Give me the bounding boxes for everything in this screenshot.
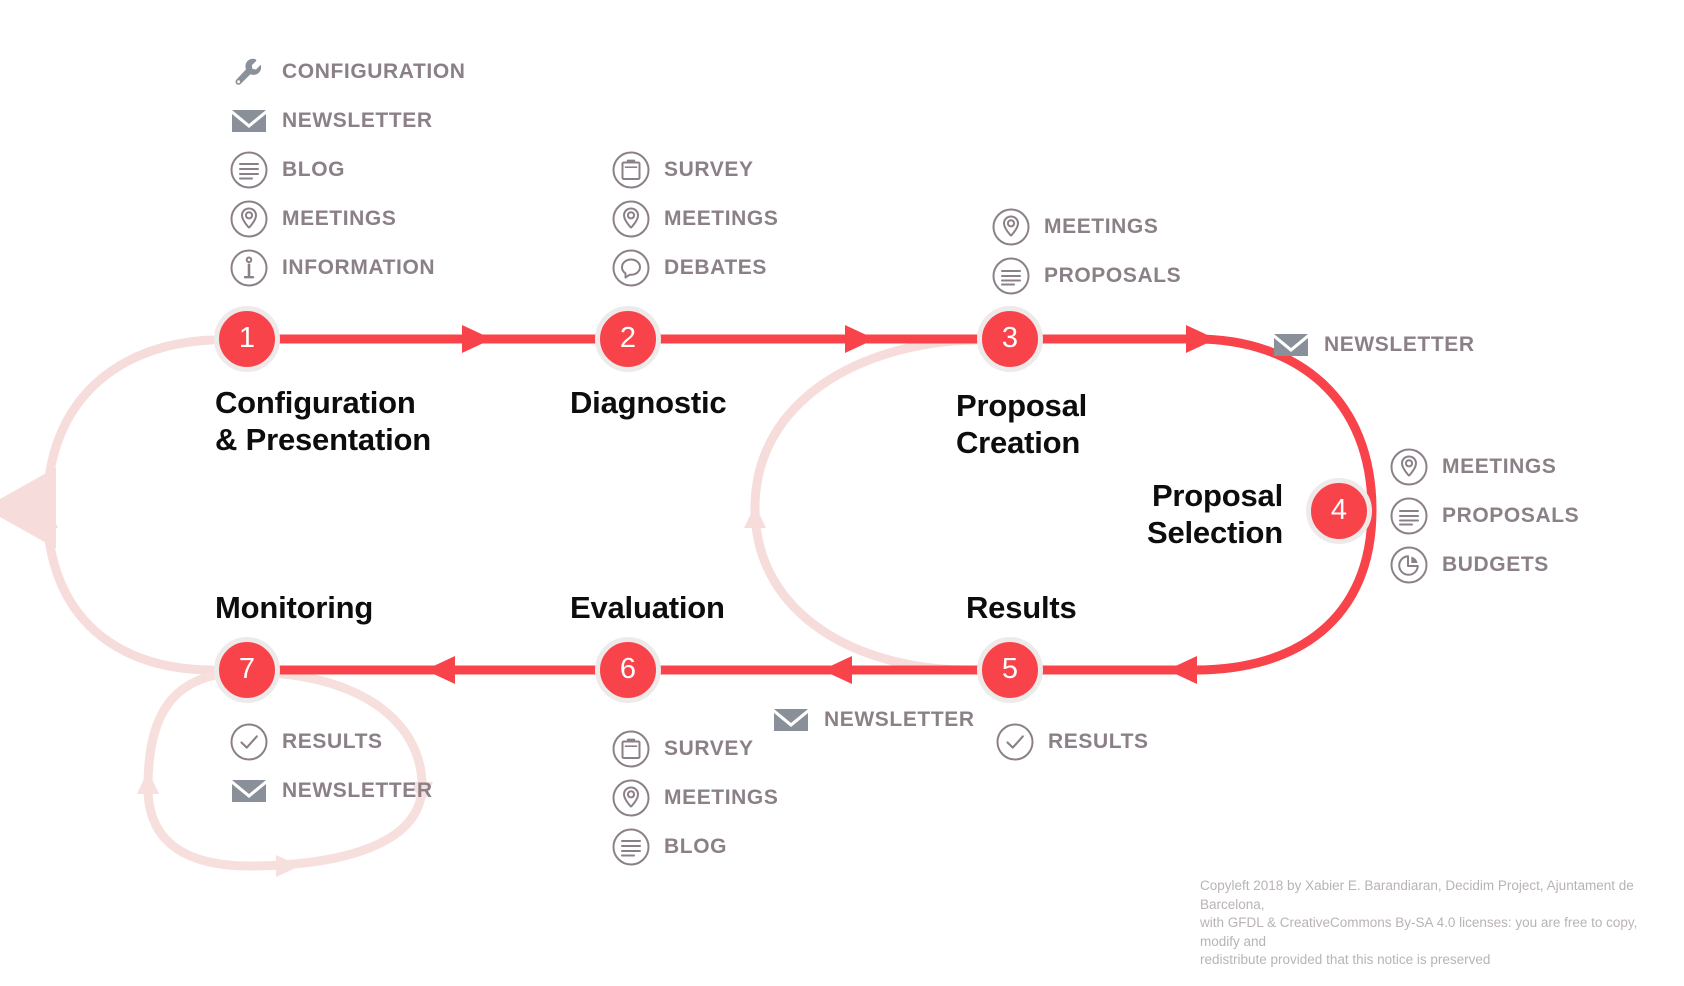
location-pin-icon	[608, 196, 654, 242]
step-node-5-number: 5	[1002, 655, 1018, 684]
icon-label-newsletter: NEWSLETTER	[1324, 334, 1475, 355]
loop-arrowhead-middle	[744, 505, 766, 528]
icon-label-meetings: MEETINGS	[1044, 216, 1158, 237]
icon-label-newsletter: NEWSLETTER	[282, 110, 433, 131]
step-title-6: Evaluation	[570, 590, 725, 627]
icon-row-meetings[interactable]: MEETINGS	[988, 202, 1181, 251]
icon-group-step-3-newsletter: NEWSLETTER	[1268, 320, 1475, 369]
icon-row-blog[interactable]: BLOG	[226, 145, 466, 194]
icon-row-meetings[interactable]: MEETINGS	[608, 194, 778, 243]
location-pin-icon	[226, 196, 272, 242]
icon-row-newsletter[interactable]: NEWSLETTER	[1268, 320, 1475, 369]
icon-label-debates: DEBATES	[664, 257, 767, 278]
loop-arrowhead-self-bottom	[276, 855, 300, 877]
arrowhead-5-to-6	[822, 656, 852, 684]
icon-row-results[interactable]: RESULTS	[992, 717, 1149, 766]
location-pin-icon	[988, 204, 1034, 250]
icon-row-results[interactable]: RESULTS	[226, 717, 433, 766]
arrowhead-1-to-2	[462, 325, 492, 353]
loop-results-to-proposal-creation	[755, 340, 975, 670]
step-title-4: Proposal Selection	[1000, 478, 1283, 551]
step-node-3-number: 3	[1002, 324, 1018, 353]
step-node-2[interactable]: 2	[595, 306, 661, 372]
arrowhead-4-to-5	[1167, 656, 1197, 684]
step-node-3[interactable]: 3	[977, 306, 1043, 372]
copyright-line-2: with GFDL & CreativeCommons By-SA 4.0 li…	[1200, 914, 1670, 951]
icon-group-step-5-newsletter: NEWSLETTER	[768, 695, 975, 744]
icon-label-blog: BLOG	[282, 159, 345, 180]
speech-bubble-icon	[608, 245, 654, 291]
step-node-5[interactable]: 5	[977, 637, 1043, 703]
location-pin-icon	[1386, 444, 1432, 490]
clipboard-icon	[608, 147, 654, 193]
icon-row-blog[interactable]: BLOG	[608, 822, 778, 871]
icon-row-newsletter[interactable]: NEWSLETTER	[768, 695, 975, 744]
icon-row-meetings[interactable]: MEETINGS	[226, 194, 466, 243]
step-title-1: Configuration & Presentation	[215, 385, 431, 458]
icon-group-step-4: MEETINGS PROPOSALS	[1386, 442, 1579, 589]
icon-label-configuration: CONFIGURATION	[282, 61, 466, 82]
icon-label-blog: BLOG	[664, 836, 727, 857]
step-node-6[interactable]: 6	[595, 637, 661, 703]
copyright-line-3: redistribute provided that this notice i…	[1200, 951, 1670, 970]
icon-row-information[interactable]: INFORMATION	[226, 243, 466, 292]
wrench-icon	[226, 49, 272, 95]
icon-label-results: RESULTS	[1048, 731, 1149, 752]
loop-monitoring-to-configuration	[47, 340, 212, 670]
icon-group-step-1: CONFIGURATION NEWSLETTER	[226, 47, 466, 292]
step-node-4[interactable]: 4	[1306, 478, 1372, 544]
icon-label-meetings: MEETINGS	[1442, 456, 1556, 477]
icon-group-step-7: RESULTS NEWSLETTER	[226, 717, 433, 815]
icon-row-newsletter[interactable]: NEWSLETTER	[226, 766, 433, 815]
icon-label-meetings: MEETINGS	[664, 208, 778, 229]
icon-row-budgets[interactable]: BUDGETS	[1386, 540, 1579, 589]
icon-label-survey: SURVEY	[664, 159, 754, 180]
icon-label-survey: SURVEY	[664, 738, 754, 759]
loop-arrowhead-self-left	[137, 770, 159, 794]
step-node-7-number: 7	[239, 655, 255, 684]
arrowhead-3-to-4	[1186, 325, 1216, 353]
information-icon	[226, 245, 272, 291]
icon-row-proposals[interactable]: PROPOSALS	[1386, 491, 1579, 540]
document-lines-icon	[988, 253, 1034, 299]
arrowhead-6-to-7	[425, 656, 455, 684]
loop-arrowhead-left	[36, 505, 58, 528]
check-circle-icon	[992, 719, 1038, 765]
step-node-4-number: 4	[1331, 496, 1347, 525]
icon-label-proposals: PROPOSALS	[1442, 505, 1579, 526]
copyright-line-1: Copyleft 2018 by Xabier E. Barandiaran, …	[1200, 877, 1670, 914]
step-title-2: Diagnostic	[570, 385, 726, 422]
location-pin-icon	[608, 775, 654, 821]
icon-row-survey[interactable]: SURVEY	[608, 145, 778, 194]
envelope-icon	[226, 768, 272, 814]
step-node-7[interactable]: 7	[214, 637, 280, 703]
document-lines-icon	[1386, 493, 1432, 539]
icon-group-step-2: SURVEY MEETINGS DEBATES	[608, 145, 778, 292]
icon-row-configuration[interactable]: CONFIGURATION	[226, 47, 466, 96]
icon-label-meetings: MEETINGS	[664, 787, 778, 808]
icon-row-debates[interactable]: DEBATES	[608, 243, 778, 292]
blog-icon	[226, 147, 272, 193]
envelope-icon	[1268, 322, 1314, 368]
diagram-canvas: 1 2 3 4 5 6 7 Configuration & Presentati…	[0, 0, 1684, 986]
step-title-5: Results	[966, 590, 1077, 627]
icon-row-meetings[interactable]: MEETINGS	[1386, 442, 1579, 491]
icon-label-budgets: BUDGETS	[1442, 554, 1549, 575]
copyright-notice: Copyleft 2018 by Xabier E. Barandiaran, …	[1200, 877, 1670, 970]
clipboard-icon	[608, 726, 654, 772]
check-circle-icon	[226, 719, 272, 765]
step-node-2-number: 2	[620, 324, 636, 353]
icon-label-meetings: MEETINGS	[282, 208, 396, 229]
icon-row-proposals[interactable]: PROPOSALS	[988, 251, 1181, 300]
step-node-1-number: 1	[239, 324, 255, 353]
icon-label-results: RESULTS	[282, 731, 383, 752]
step-title-3: Proposal Creation	[956, 388, 1087, 461]
icon-group-step-6: SURVEY MEETINGS	[608, 724, 778, 871]
blog-icon	[608, 824, 654, 870]
icon-group-step-5: RESULTS	[992, 717, 1149, 766]
icon-label-information: INFORMATION	[282, 257, 435, 278]
icon-label-newsletter: NEWSLETTER	[824, 709, 975, 730]
icon-label-newsletter: NEWSLETTER	[282, 780, 433, 801]
icon-row-survey[interactable]: SURVEY	[608, 724, 778, 773]
icon-label-proposals: PROPOSALS	[1044, 265, 1181, 286]
step-node-6-number: 6	[620, 655, 636, 684]
step-title-7: Monitoring	[215, 590, 373, 627]
envelope-icon	[226, 98, 272, 144]
step-node-1[interactable]: 1	[214, 306, 280, 372]
arrowhead-2-to-3	[845, 325, 875, 353]
icon-row-meetings[interactable]: MEETINGS	[608, 773, 778, 822]
pie-chart-icon	[1386, 542, 1432, 588]
icon-row-newsletter[interactable]: NEWSLETTER	[226, 96, 466, 145]
icon-group-step-3: MEETINGS PROPOSALS	[988, 202, 1181, 300]
